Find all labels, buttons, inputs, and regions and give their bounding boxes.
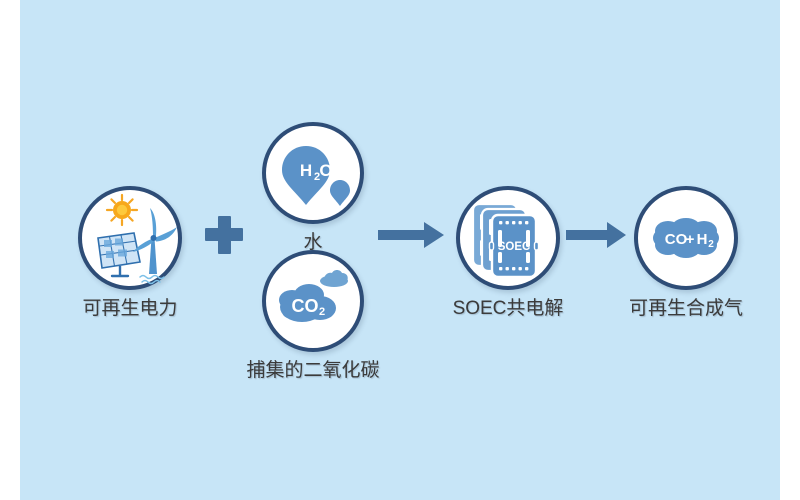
node-soec-coelectrolysis[interactable]: SOEC SOEC共电解 [456, 186, 560, 290]
svg-text:2: 2 [708, 239, 714, 250]
node-renewable-syngas[interactable]: CO + H 2 可再生合成气 [634, 186, 738, 290]
svg-text:CO: CO [292, 296, 319, 316]
svg-text:CO: CO [665, 231, 688, 248]
plus-bar-vertical [218, 216, 231, 254]
co2-cloud-icon: CO 2 [262, 250, 364, 352]
soec-stack-icon: SOEC [456, 186, 560, 290]
svg-text:O: O [319, 161, 332, 180]
svg-text:2: 2 [319, 306, 325, 318]
svg-text:H: H [300, 161, 312, 180]
node-water[interactable]: H 2 O 水 [262, 122, 364, 224]
syngas-cloud-icon: CO + H 2 [634, 186, 738, 290]
arrow-soec-to-syngas-icon [566, 219, 628, 251]
node-captured-co2[interactable]: CO 2 捕集的二氧化碳 [262, 250, 364, 352]
node-renewable-power[interactable]: 可再生电力 [78, 186, 182, 290]
soec-caption: SOEC共电解 [418, 298, 598, 320]
svg-text:+: + [686, 231, 695, 248]
arrow-inputs-to-soec-icon [378, 219, 446, 251]
solar-panel-wind-turbine-icon [78, 186, 182, 290]
captured-co2-caption: 捕集的二氧化碳 [223, 360, 403, 382]
plus-operator-icon [205, 216, 243, 254]
svg-text:SOEC: SOEC [498, 241, 531, 253]
diagram-canvas: 可再生电力 H 2 O 水 [0, 0, 800, 500]
water-droplet-icon: H 2 O [262, 122, 364, 224]
svg-text:H: H [697, 231, 708, 248]
renewable-power-caption: 可再生电力 [40, 298, 220, 320]
renewable-syngas-caption: 可再生合成气 [596, 298, 776, 320]
